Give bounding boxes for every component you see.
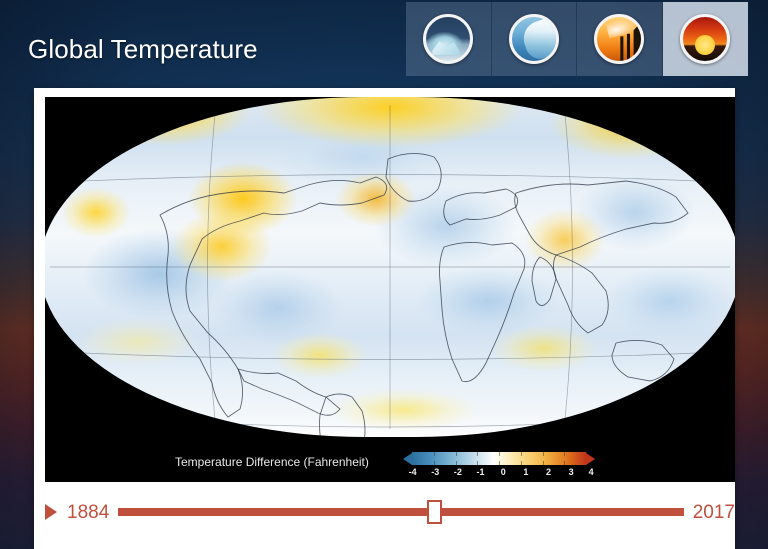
temperature-map[interactable] [45,97,735,482]
colorbar-high-arrow-icon [586,453,595,465]
year-slider-handle[interactable] [427,500,442,524]
year-timeline: 1884 2017 [45,494,735,530]
ice-sheet-icon [423,14,473,64]
map-legend: Temperature Difference (Fahrenheit) -4 -… [45,452,735,482]
thumbnail-wave[interactable] [492,2,578,76]
thumbnail-smoke[interactable] [577,2,663,76]
colorbar-tick: -2 [454,467,462,477]
colorbar-tick: 0 [501,467,506,477]
colorbar-low-arrow-icon [403,453,412,465]
thumbnail-ice[interactable] [406,2,492,76]
colorbar-tick-labels: -4 -3 -2 -1 0 1 2 3 4 [403,467,595,481]
page-title: Global Temperature [28,34,258,65]
thumbnail-sunset[interactable] [663,2,749,76]
sunset-icon [680,14,730,64]
start-year-label: 1884 [67,503,109,522]
colorbar-tick: 2 [546,467,551,477]
colorbar: -4 -3 -2 -1 0 1 2 3 4 [403,452,595,481]
end-year-label: 2017 [693,503,735,522]
colorbar-tick: -3 [431,467,439,477]
global-temperature-page: Global Temperature [0,0,768,549]
topic-thumbnail-strip [406,2,748,76]
colorbar-tick: -4 [409,467,417,477]
colorbar-strip [403,452,595,465]
colorbar-tick: 4 [589,467,594,477]
colorbar-tick: 1 [523,467,528,477]
globe-projection [45,97,735,437]
colorbar-tick: -1 [477,467,485,477]
coastline-overlay [45,97,735,437]
legend-label: Temperature Difference (Fahrenheit) [175,455,369,469]
year-slider[interactable] [118,501,683,523]
colorbar-gradient [412,452,586,465]
year-slider-track[interactable] [118,508,683,516]
ocean-wave-icon [509,14,559,64]
play-triangle-icon[interactable] [45,504,57,520]
colorbar-tick: 3 [569,467,574,477]
smokestacks-icon [594,14,644,64]
